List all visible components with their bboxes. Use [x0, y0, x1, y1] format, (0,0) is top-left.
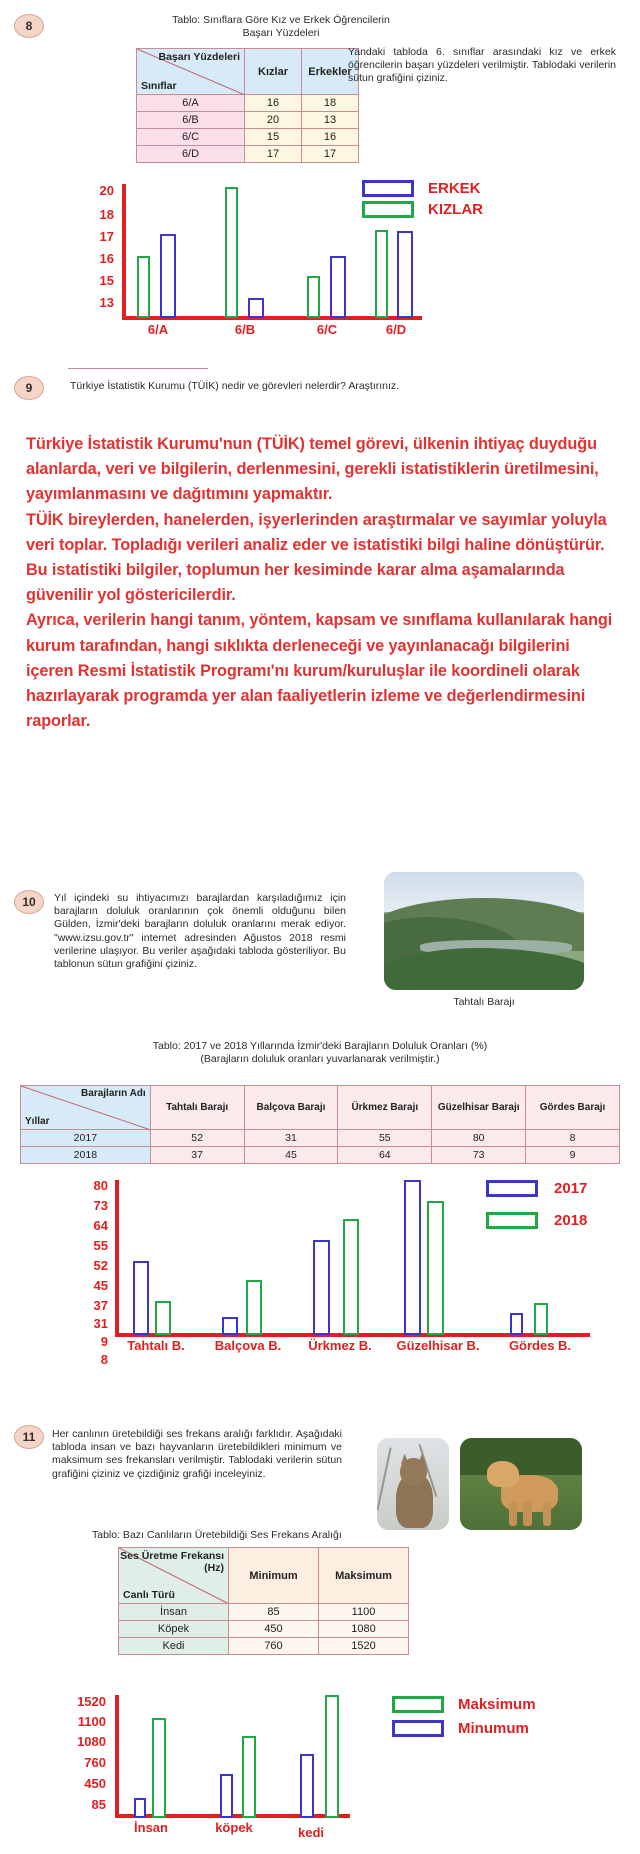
- bar-min-insan: [134, 1798, 146, 1818]
- q8-table-title-line1: Tablo: Sınıflara Göre Kız ve Erkek Öğren…: [136, 14, 426, 27]
- bar-2018-balcova: [246, 1280, 262, 1335]
- q8-xtick: 6/A: [128, 322, 188, 337]
- q11-bar-chart: Maksimum Minumum 1520 1100 1080 760 450 …: [0, 1692, 640, 1852]
- legend-swatch-erkek: [362, 180, 414, 197]
- q10-ytick: 8: [66, 1353, 108, 1366]
- q10-ytick: 9: [66, 1335, 108, 1348]
- table-row: 6/C 15 16: [137, 129, 359, 146]
- q10-table-title: Tablo: 2017 ve 2018 Yıllarında İzmir'dek…: [20, 1040, 620, 1066]
- q10-corner-bottom-label: Yıllar: [25, 1116, 49, 1127]
- bar-2017-guzelhisar: [404, 1180, 421, 1335]
- bar-min-kedi: [300, 1754, 314, 1818]
- dog-leg: [523, 1502, 532, 1526]
- bar-2018-guzelhisar: [427, 1201, 444, 1335]
- q10-cell-value: 64: [338, 1147, 432, 1164]
- dog-leg: [509, 1502, 518, 1526]
- question-number-9: 9: [14, 376, 44, 400]
- q10-cell-value: 55: [338, 1130, 432, 1147]
- q10-header-guzelhisar: Güzelhisar Barajı: [432, 1086, 526, 1130]
- q11-xtick: kedi: [280, 1825, 342, 1840]
- q10-cell-value: 80: [432, 1130, 526, 1147]
- q11-ytick: 85: [48, 1798, 106, 1811]
- q11-xtick: köpek: [203, 1820, 265, 1835]
- q10-cell-value: 8: [526, 1130, 620, 1147]
- q8-table-title: Tablo: Sınıflara Göre Kız ve Erkek Öğren…: [136, 14, 426, 40]
- q10-cell-value: 45: [244, 1147, 338, 1164]
- table-row: 2018 37 45 64 73 9: [21, 1147, 620, 1164]
- legend-swatch-2018: [486, 1212, 538, 1229]
- q11-cell-value: 1100: [319, 1604, 409, 1621]
- q11-cell-value: 1520: [319, 1638, 409, 1655]
- bar-erkek-6c: [330, 256, 346, 318]
- dog-photo: [460, 1438, 582, 1530]
- q10-y-axis: [115, 1180, 119, 1337]
- q11-cell-value: 760: [229, 1638, 319, 1655]
- photo-foreground: [384, 948, 584, 990]
- q11-y-axis: [115, 1695, 119, 1818]
- table-row: 6/A 16 18: [137, 95, 359, 112]
- legend-label-maksimum: Maksimum: [458, 1696, 536, 1713]
- q10-table-title-line2: (Barajların doluluk oranları yuvarlanara…: [20, 1053, 620, 1066]
- q10-cell-value: 52: [150, 1130, 244, 1147]
- q8-cell-value: 16: [245, 95, 302, 112]
- bar-2017-balcova: [222, 1317, 238, 1335]
- table-row: 6/B 20 13: [137, 112, 359, 129]
- dam-photo-caption: Tahtalı Barajı: [384, 996, 584, 1008]
- dam-photo: [384, 872, 584, 990]
- question-number-10-label: 10: [22, 895, 35, 909]
- q10-xtick: Tahtalı B.: [112, 1338, 200, 1353]
- dog-leg: [543, 1502, 552, 1526]
- question-number-9-label: 9: [26, 381, 33, 395]
- q9-answer-paragraph-2: TÜİK bireylerden, hanelerden, işyerlerin…: [26, 508, 620, 609]
- q8-cell-value: 20: [245, 112, 302, 129]
- q11-row-label: İnsan: [119, 1604, 229, 1621]
- q10-ytick: 55: [66, 1239, 108, 1252]
- q9-answer-paragraph-1: Türkiye İstatistik Kurumu'nun (TÜİK) tem…: [26, 432, 620, 508]
- bar-max-insan: [152, 1718, 166, 1818]
- dog-head: [487, 1461, 519, 1487]
- cat-photo: [377, 1438, 449, 1530]
- bar-kizlar-6d: [375, 230, 388, 318]
- q8-ytick: 16: [74, 252, 114, 265]
- q8-table-corner: Başarı Yüzdeleri Sınıflar: [137, 49, 245, 95]
- q10-table: Barajların Adı Yıllar Tahtalı Barajı Bal…: [20, 1085, 620, 1164]
- q11-ytick: 760: [48, 1756, 106, 1769]
- cat-head: [400, 1458, 427, 1486]
- q8-cell-value: 13: [302, 112, 359, 129]
- q11-cell-value: 85: [229, 1604, 319, 1621]
- bar-2018-gordes: [534, 1303, 548, 1335]
- table-row: İnsan 85 1100: [119, 1604, 409, 1621]
- bar-2018-tahtali: [155, 1301, 171, 1335]
- q10-prompt-text: Yıl içindeki su ihtiyacımızı barajlardan…: [54, 892, 346, 971]
- bar-2017-urkmez: [313, 1240, 330, 1335]
- q8-xtick: 6/D: [366, 322, 426, 337]
- q10-bar-chart: 2017 2018 80 73 64 55 52 45 37 31 9 8: [0, 1172, 640, 1362]
- legend-label-2017: 2017: [554, 1180, 587, 1197]
- q10-ytick: 64: [66, 1219, 108, 1232]
- bar-2017-gordes: [510, 1313, 523, 1335]
- q11-cell-value: 1080: [319, 1621, 409, 1638]
- worksheet-page: 8 Tablo: Sınıflara Göre Kız ve Erkek Öğr…: [0, 0, 640, 1854]
- q10-ytick: 52: [66, 1259, 108, 1272]
- q9-answer-text: Türkiye İstatistik Kurumu'nun (TÜİK) tem…: [26, 432, 620, 734]
- q11-prompt-text: Her canlının üretebildiği ses frekans ar…: [52, 1428, 342, 1481]
- bar-min-kopek: [220, 1774, 233, 1818]
- q10-cell-value: 31: [244, 1130, 338, 1147]
- q10-cell-value: 73: [432, 1147, 526, 1164]
- q10-ytick: 80: [66, 1179, 108, 1192]
- q11-ytick: 1520: [48, 1695, 106, 1708]
- q8-header-kizlar: Kızlar: [245, 49, 302, 95]
- legend-label-minumum: Minumum: [458, 1720, 529, 1737]
- q8-cell-value: 18: [302, 95, 359, 112]
- bar-max-kopek: [242, 1736, 256, 1818]
- q10-ytick: 31: [66, 1317, 108, 1330]
- table-row: Ses Üretme Frekansı (Hz) Canlı Türü Mini…: [119, 1548, 409, 1604]
- q8-ytick: 13: [74, 296, 114, 309]
- q9-prompt-text: Türkiye İstatistik Kurumu (TÜİK) nedir v…: [70, 380, 570, 393]
- q10-header-urkmez: Ürkmez Barajı: [338, 1086, 432, 1130]
- table-row: Köpek 450 1080: [119, 1621, 409, 1638]
- q10-ytick: 37: [66, 1299, 108, 1312]
- q8-table: Başarı Yüzdeleri Sınıflar Kızlar Erkekle…: [136, 48, 359, 163]
- q9-answer-paragraph-3: Ayrıca, verilerin hangi tanım, yöntem, k…: [26, 608, 620, 734]
- bar-2017-tahtali: [133, 1261, 149, 1335]
- q10-xtick: Güzelhisar B.: [380, 1338, 496, 1353]
- q10-ytick: 73: [66, 1199, 108, 1212]
- legend-swatch-minumum: [392, 1720, 444, 1737]
- dog-photo-shadow: [460, 1438, 582, 1475]
- q10-xtick: Ürkmez B.: [296, 1338, 384, 1353]
- q8-ytick: 15: [74, 274, 114, 287]
- table-row: Kedi 760 1520: [119, 1638, 409, 1655]
- table-row: 6/D 17 17: [137, 146, 359, 163]
- q10-cell-value: 37: [150, 1147, 244, 1164]
- q10-xtick: Balçova B.: [200, 1338, 296, 1353]
- q10-ytick: 45: [66, 1279, 108, 1292]
- q8-cell-value: 16: [302, 129, 359, 146]
- q11-table-corner: Ses Üretme Frekansı (Hz) Canlı Türü: [119, 1548, 229, 1604]
- q10-xtick: Gördes B.: [494, 1338, 586, 1353]
- legend-label-erkek: ERKEK: [428, 180, 481, 197]
- q11-ytick: 1100: [48, 1715, 106, 1728]
- legend-label-kizlar: KIZLAR: [428, 201, 483, 218]
- question-number-8-label: 8: [26, 19, 33, 33]
- legend-swatch-maksimum: [392, 1696, 444, 1713]
- q8-prompt-text: Yandaki tabloda 6. sınıflar arasındaki k…: [348, 46, 616, 86]
- q10-table-corner: Barajların Adı Yıllar: [21, 1086, 151, 1130]
- q8-ytick: 17: [74, 230, 114, 243]
- bar-erkek-6b: [248, 298, 264, 318]
- q8-table-title-line2: Başarı Yüzdeleri: [136, 27, 426, 40]
- legend-swatch-2017: [486, 1180, 538, 1197]
- question-number-10: 10: [14, 890, 44, 914]
- question-number-11: 11: [14, 1425, 44, 1449]
- table-row: 2017 52 31 55 80 8: [21, 1130, 620, 1147]
- q11-ytick: 450: [48, 1777, 106, 1790]
- q10-header-balcova: Balçova Barajı: [244, 1086, 338, 1130]
- q11-header-minimum: Minimum: [229, 1548, 319, 1604]
- q8-cell-value: 17: [245, 146, 302, 163]
- question-number-11-label: 11: [23, 1430, 36, 1444]
- q10-cell-value: 9: [526, 1147, 620, 1164]
- q11-header-maksimum: Maksimum: [319, 1548, 409, 1604]
- q11-corner-bottom-label: Canlı Türü: [123, 1589, 175, 1601]
- q8-xtick: 6/B: [215, 322, 275, 337]
- q11-corner-top-label: Ses Üretme Frekansı (Hz): [119, 1550, 224, 1574]
- q8-y-axis: [122, 184, 126, 320]
- bar-erkek-6d: [397, 231, 413, 318]
- section-divider: [68, 368, 208, 369]
- bar-max-kedi: [325, 1695, 339, 1818]
- bar-kizlar-6a: [137, 256, 150, 318]
- bar-kizlar-6c: [307, 276, 320, 318]
- q8-row-label: 6/D: [137, 146, 245, 163]
- q8-row-label: 6/C: [137, 129, 245, 146]
- bar-kizlar-6b: [225, 187, 238, 318]
- q8-corner-bottom-label: Sınıflar: [141, 80, 177, 92]
- q10-row-label: 2018: [21, 1147, 151, 1164]
- legend-swatch-kizlar: [362, 201, 414, 218]
- bar-erkek-6a: [160, 234, 176, 318]
- q8-cell-value: 17: [302, 146, 359, 163]
- q8-cell-value: 15: [245, 129, 302, 146]
- q11-ytick: 1080: [48, 1735, 106, 1748]
- q10-corner-top-label: Barajların Adı: [81, 1088, 146, 1099]
- q10-header-gordes: Gördes Barajı: [526, 1086, 620, 1130]
- q11-table-title: Tablo: Bazı Canlıların Üretebildiği Ses …: [92, 1529, 512, 1542]
- q8-row-label: 6/A: [137, 95, 245, 112]
- bar-2018-urkmez: [343, 1219, 359, 1335]
- q11-table: Ses Üretme Frekansı (Hz) Canlı Türü Mini…: [118, 1547, 409, 1655]
- q8-corner-top-label: Başarı Yüzdeleri: [158, 51, 240, 63]
- q10-row-label: 2017: [21, 1130, 151, 1147]
- q8-bar-chart: ERKEK KIZLAR 20 18 17 16 15 13 6/A 6/B 6…: [0, 170, 640, 355]
- q11-row-label: Kedi: [119, 1638, 229, 1655]
- q11-xtick: İnsan: [120, 1820, 182, 1835]
- q11-row-label: Köpek: [119, 1621, 229, 1638]
- q10-table-title-line1: Tablo: 2017 ve 2018 Yıllarında İzmir'dek…: [20, 1040, 620, 1053]
- q11-cell-value: 450: [229, 1621, 319, 1638]
- legend-label-2018: 2018: [554, 1212, 587, 1229]
- question-number-8: 8: [14, 14, 44, 38]
- q8-xtick: 6/C: [297, 322, 357, 337]
- q8-ytick: 20: [74, 184, 114, 197]
- q10-header-tahtali: Tahtalı Barajı: [150, 1086, 244, 1130]
- q8-row-label: 6/B: [137, 112, 245, 129]
- table-row: Başarı Yüzdeleri Sınıflar Kızlar Erkekle…: [137, 49, 359, 95]
- q8-ytick: 18: [74, 208, 114, 221]
- table-row: Barajların Adı Yıllar Tahtalı Barajı Bal…: [21, 1086, 620, 1130]
